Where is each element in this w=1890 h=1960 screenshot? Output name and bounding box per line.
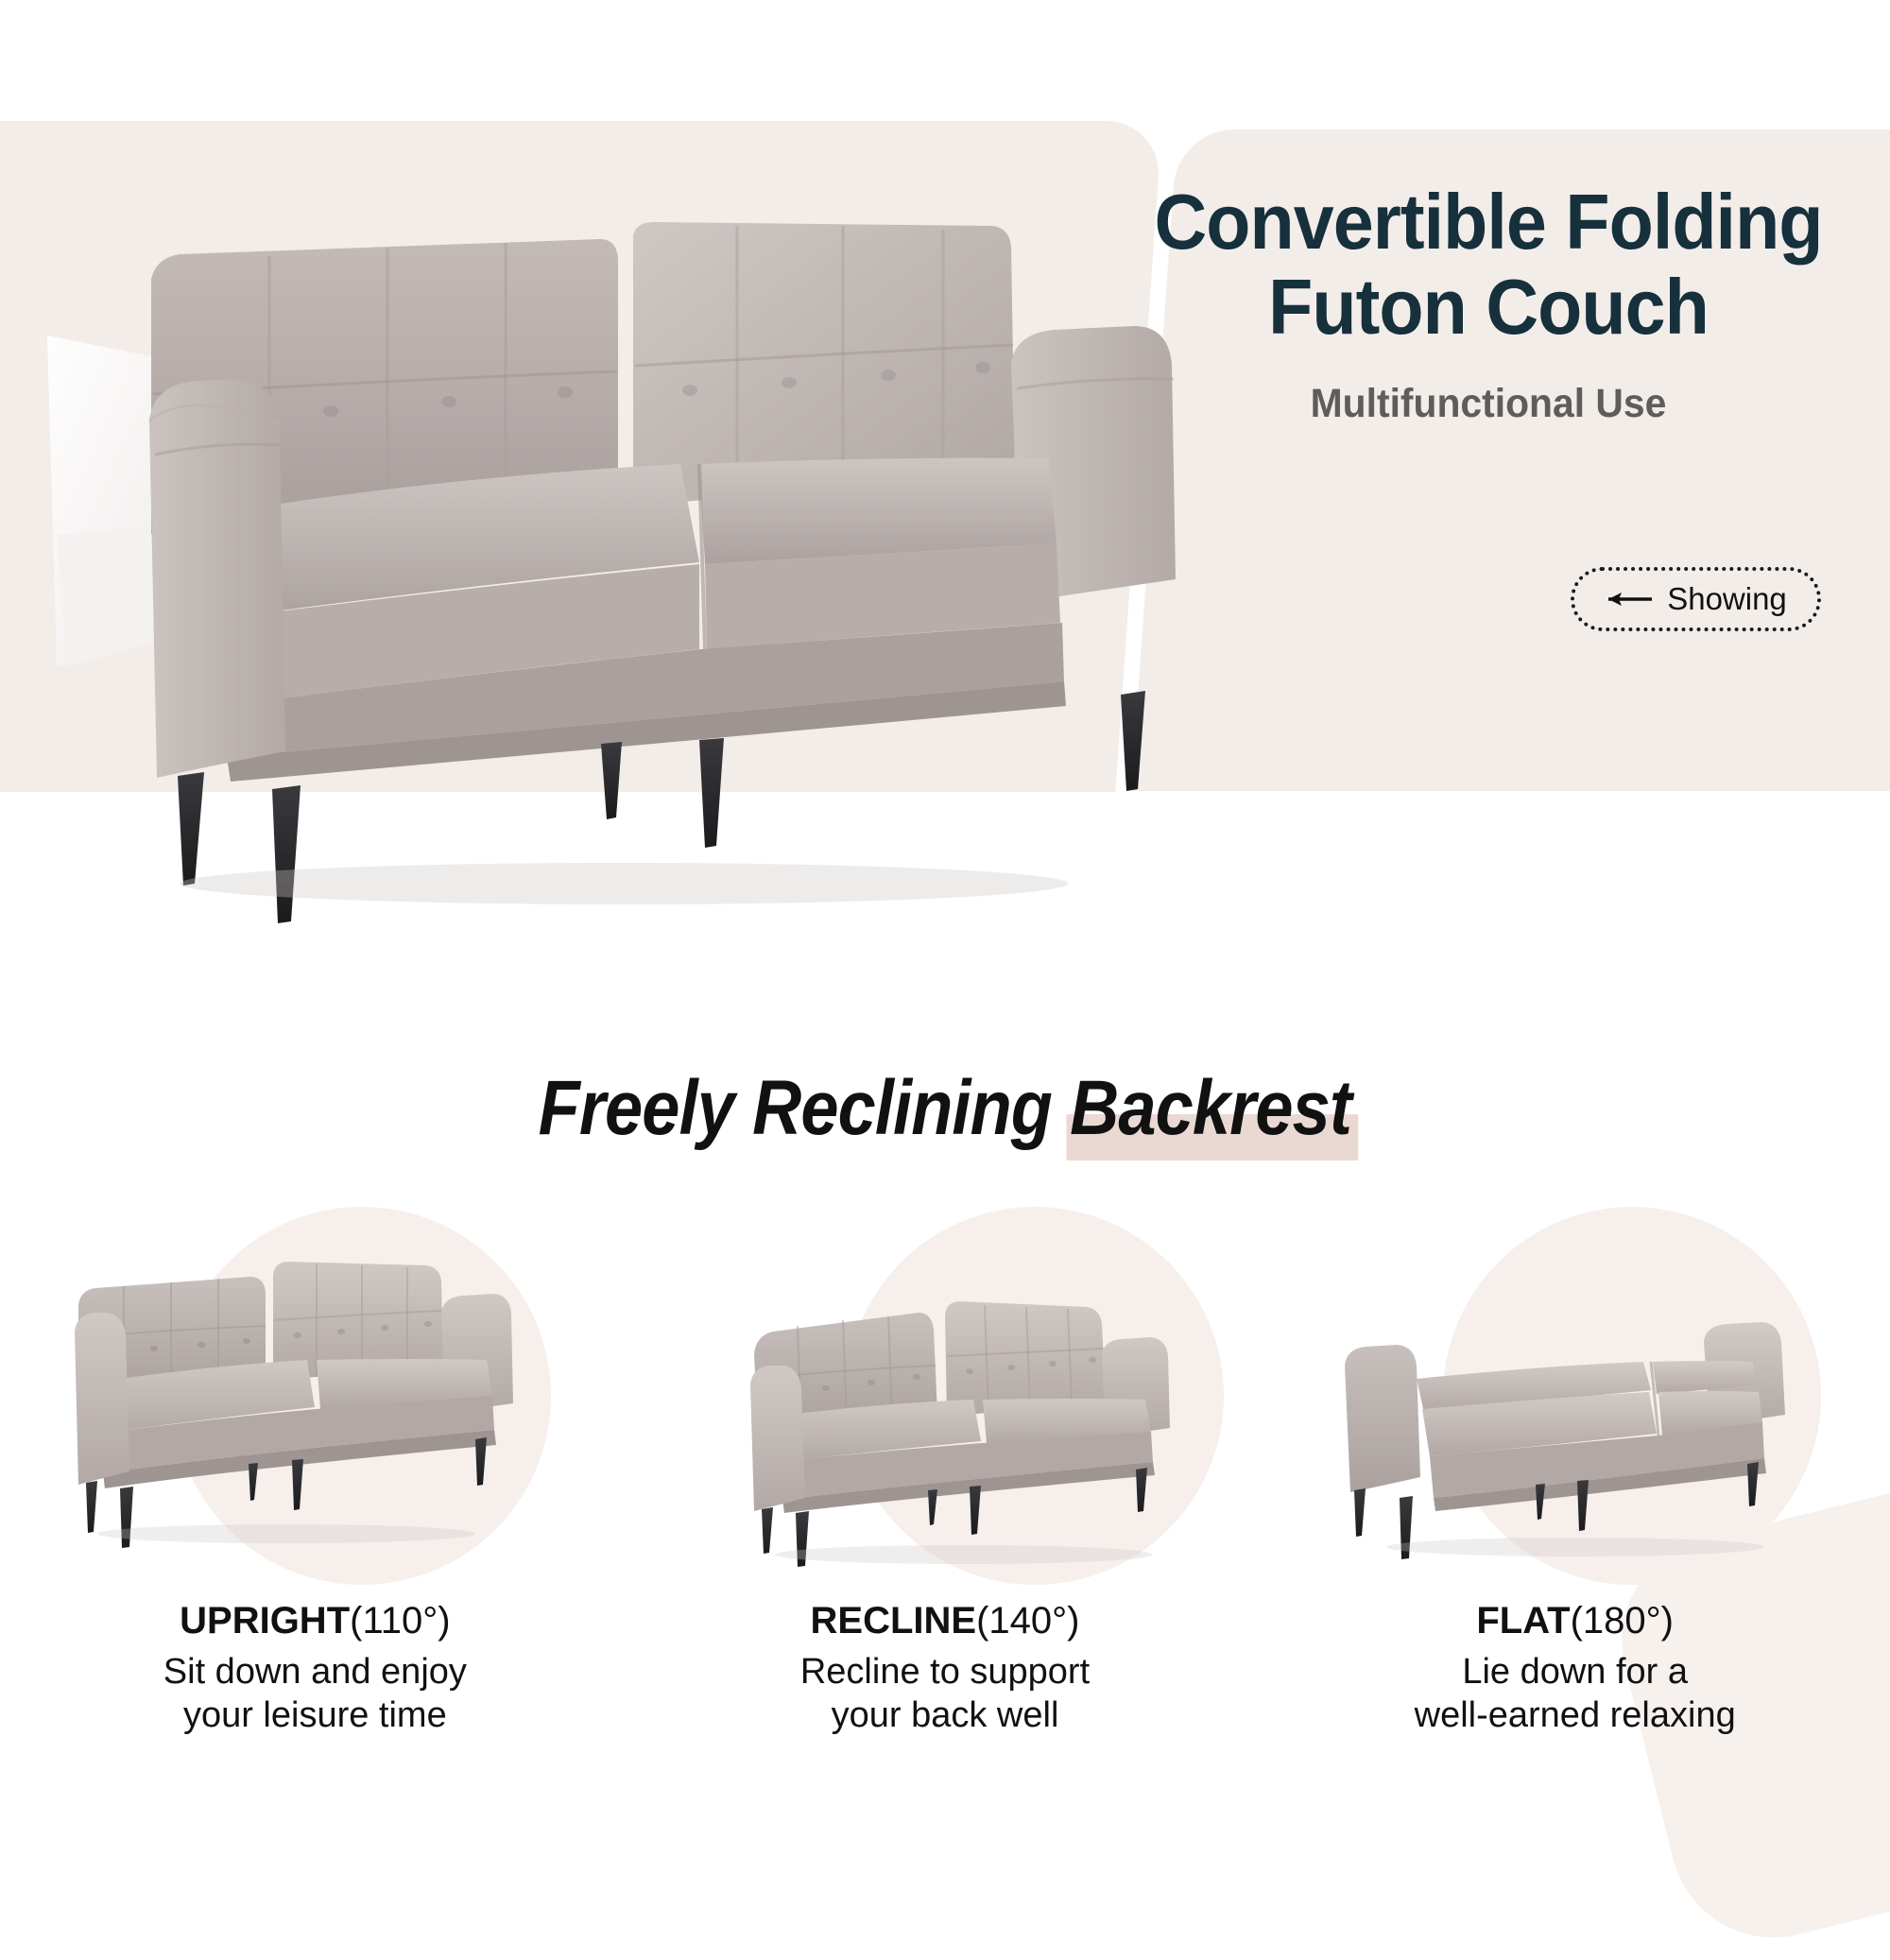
reclining-modes-row: UPRIGHT(110°) Sit down and enjoy your le… <box>0 1195 1890 1876</box>
mode-title-flat: FLAT(180°) <box>1415 1600 1736 1642</box>
arrow-left-icon <box>1605 589 1654 610</box>
mode-desc-flat-line1: Lie down for a <box>1415 1650 1736 1694</box>
mode-title-upright: UPRIGHT(110°) <box>163 1600 467 1642</box>
page-title-line1: Convertible Folding <box>1142 180 1836 265</box>
mode-card-upright: UPRIGHT(110°) Sit down and enjoy your le… <box>0 1195 630 1876</box>
section-heading-highlight: Backrest <box>1070 1064 1351 1153</box>
mode-card-flat: FLAT(180°) Lie down for a well-earned re… <box>1260 1195 1890 1876</box>
mode-angle-flat: (180°) <box>1571 1600 1674 1642</box>
mode-desc-upright: Sit down and enjoy your leisure time <box>163 1650 467 1738</box>
page-title-line2: Futon Couch <box>1142 265 1836 350</box>
mode-name-flat: FLAT <box>1476 1600 1570 1642</box>
mode-desc-upright-line2: your leisure time <box>163 1694 467 1737</box>
mode-caption-recline: RECLINE(140°) Recline to support your ba… <box>800 1600 1090 1738</box>
hero-left-arm <box>149 379 285 778</box>
mode-name-recline: RECLINE <box>811 1600 977 1642</box>
hero-text-block: Convertible Folding Futon Couch Multifun… <box>1115 180 1862 427</box>
mode-desc-upright-line1: Sit down and enjoy <box>163 1650 467 1694</box>
mode-card-recline: RECLINE(140°) Recline to support your ba… <box>630 1195 1261 1876</box>
showing-badge[interactable]: Showing <box>1571 567 1821 631</box>
showing-badge-label: Showing <box>1667 581 1787 617</box>
mode-angle-recline: (140°) <box>976 1600 1079 1642</box>
mode-angle-upright: (110°) <box>350 1600 450 1642</box>
section-heading-plain: Freely Reclining <box>539 1065 1070 1151</box>
mode-name-upright: UPRIGHT <box>180 1600 350 1642</box>
section-heading: Freely Reclining Backrest <box>0 1064 1890 1153</box>
mode-desc-recline-line1: Recline to support <box>800 1650 1090 1694</box>
page-title: Convertible Folding Futon Couch <box>1142 180 1836 349</box>
mode-desc-flat-line2: well-earned relaxing <box>1415 1694 1736 1737</box>
hero-sofa-image <box>38 222 1266 817</box>
mode-desc-flat: Lie down for a well-earned relaxing <box>1415 1650 1736 1738</box>
mode-title-recline: RECLINE(140°) <box>800 1600 1090 1642</box>
page-subtitle: Multifunctional Use <box>1134 381 1844 427</box>
mode-desc-recline: Recline to support your back well <box>800 1650 1090 1738</box>
mode-caption-flat: FLAT(180°) Lie down for a well-earned re… <box>1415 1600 1736 1738</box>
sofa-illustration-recline <box>680 1214 1210 1583</box>
mode-desc-recline-line2: your back well <box>800 1694 1090 1737</box>
sofa-illustration-flat <box>1311 1214 1840 1583</box>
sofa-illustration-upright <box>50 1214 579 1583</box>
mode-caption-upright: UPRIGHT(110°) Sit down and enjoy your le… <box>163 1600 467 1738</box>
